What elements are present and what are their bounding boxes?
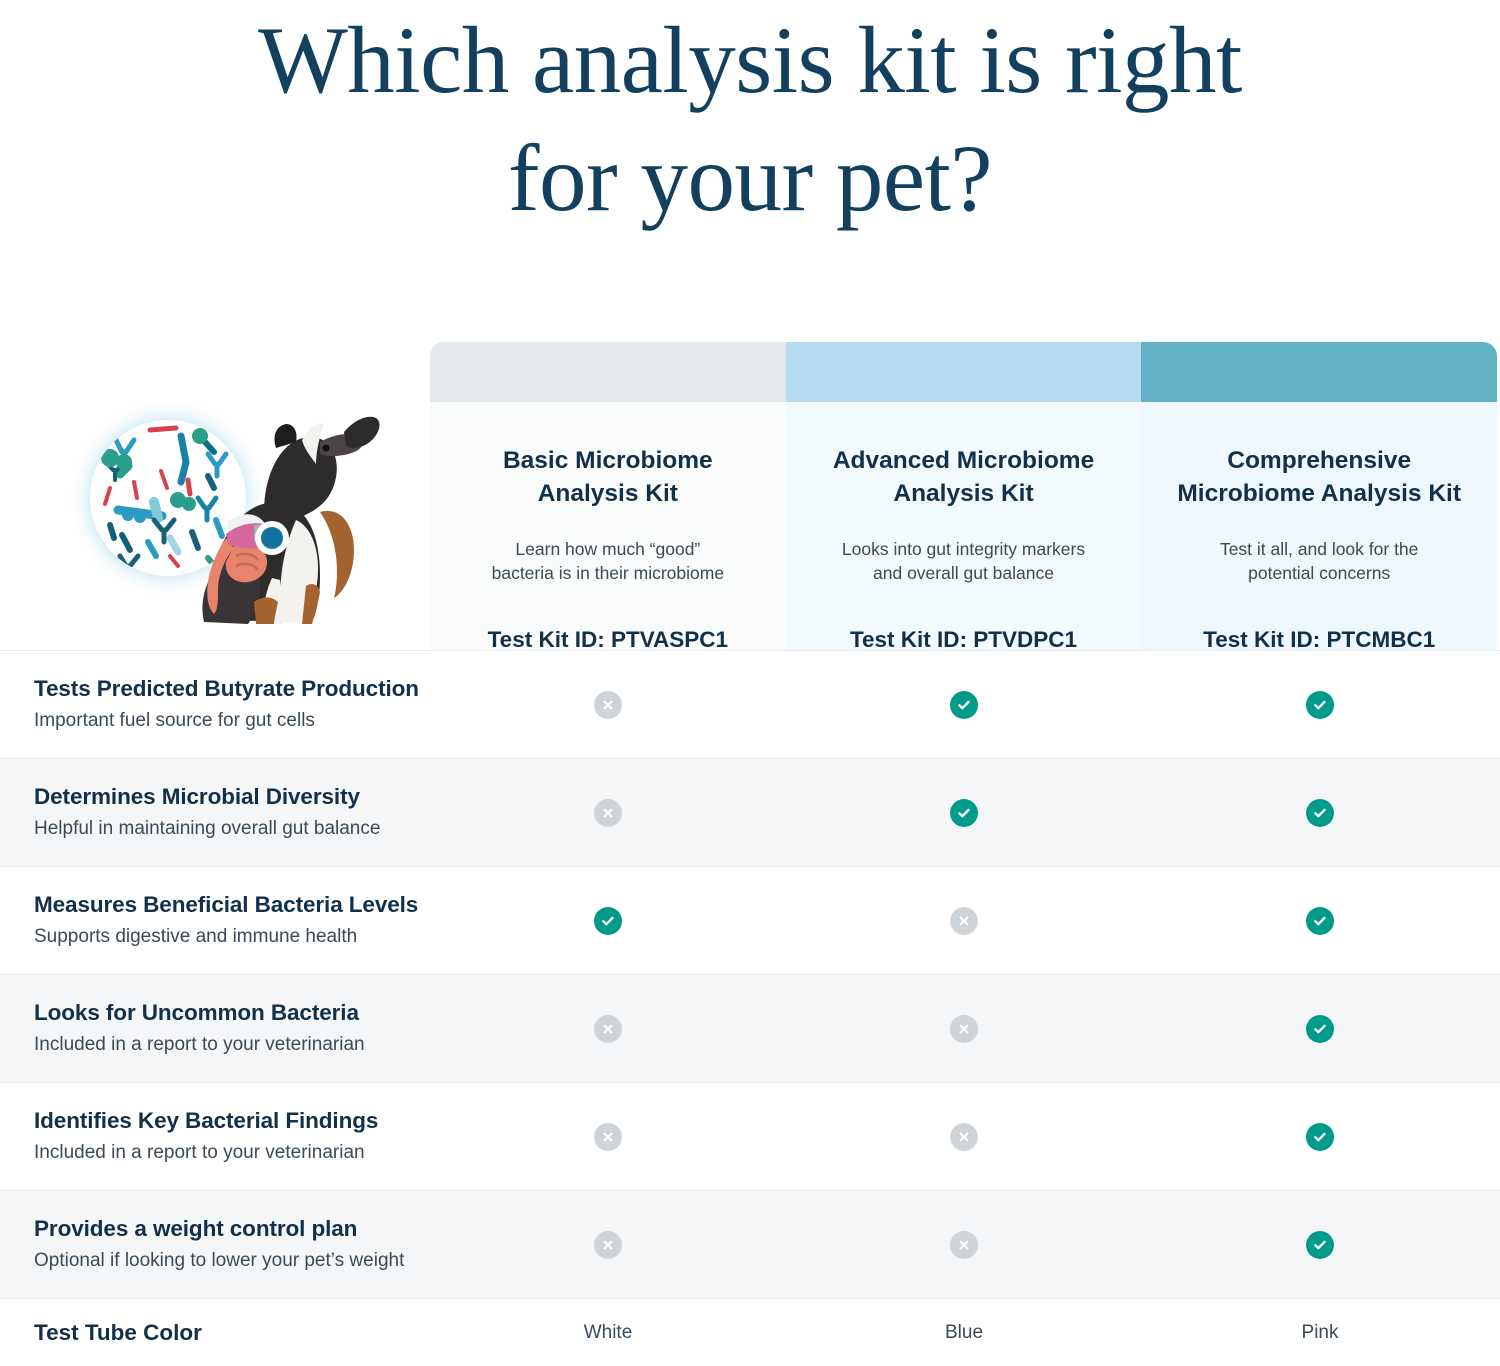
feature-label-cell: Tests Predicted Butyrate ProductionImpor… <box>0 675 430 734</box>
feature-label-cell: Provides a weight control planOptional i… <box>0 1215 430 1274</box>
feature-value-advanced <box>786 907 1142 935</box>
kit-title-line-2: Microbiome Analysis Kit <box>1177 480 1461 507</box>
kit-title-line-2: Analysis Kit <box>893 480 1033 507</box>
feature-value-basic <box>430 907 786 935</box>
feature-value-comprehensive <box>1142 907 1498 935</box>
feature-subtitle: Optional if looking to lower your pet’s … <box>34 1249 430 1274</box>
kit-title-line-1: Comprehensive <box>1227 447 1411 474</box>
test-tube-color-label-cell: Test Tube Color <box>0 1320 430 1346</box>
kit-column-basic-subtitle: Learn how much “good” bacteria is in the… <box>430 537 786 585</box>
kit-subtitle-line-2: and overall gut balance <box>873 563 1054 583</box>
feature-value-advanced <box>786 1123 1142 1151</box>
feature-title: Identifies Key Bacterial Findings <box>34 1107 430 1135</box>
tube-color-value: Blue <box>945 1322 983 1344</box>
feature-row: Measures Beneficial Bacteria LevelsSuppo… <box>0 866 1500 974</box>
check-circle-icon <box>594 907 622 935</box>
feature-row: Identifies Key Bacterial FindingsInclude… <box>0 1082 1500 1190</box>
kit-column-basic-kit-id: Test Kit ID: PTVASPC1 <box>430 627 786 653</box>
kit-subtitle-line-1: Looks into gut integrity markers <box>842 539 1085 559</box>
feature-label-cell: Identifies Key Bacterial FindingsInclude… <box>0 1107 430 1166</box>
kit-subtitle-line-2: potential concerns <box>1248 563 1390 583</box>
page-title-line-2: for your pet? <box>80 120 1420 238</box>
test-tube-color-label: Test Tube Color <box>34 1320 430 1346</box>
cross-circle-icon <box>594 1231 622 1259</box>
feature-title: Looks for Uncommon Bacteria <box>34 999 430 1027</box>
check-circle-icon <box>950 799 978 827</box>
feature-value-advanced <box>786 691 1142 719</box>
feature-value-comprehensive <box>1142 691 1498 719</box>
feature-value-basic <box>430 1015 786 1043</box>
feature-subtitle: Helpful in maintaining overall gut balan… <box>34 817 430 842</box>
cross-circle-icon <box>950 1123 978 1151</box>
feature-title: Determines Microbial Diversity <box>34 783 430 811</box>
feature-value-advanced <box>786 799 1142 827</box>
tube-color-value: White <box>584 1322 633 1344</box>
kit-subtitle-line-1: Test it all, and look for the <box>1220 539 1418 559</box>
feature-row: Looks for Uncommon BacteriaIncluded in a… <box>0 974 1500 1082</box>
feature-label-cell: Determines Microbial DiversityHelpful in… <box>0 783 430 842</box>
kit-column-basic-title: Basic Microbiome Analysis Kit <box>430 444 786 511</box>
kit-column-advanced-subtitle: Looks into gut integrity markers and ove… <box>786 537 1142 585</box>
test-tube-color-row: Test Tube Color White Blue Pink <box>0 1298 1500 1366</box>
feature-value-basic <box>430 1123 786 1151</box>
kit-column-comprehensive-title: Comprehensive Microbiome Analysis Kit <box>1141 444 1497 511</box>
test-tube-color-value-comprehensive: Pink <box>1142 1322 1498 1344</box>
feature-subtitle: Supports digestive and immune health <box>34 925 430 950</box>
check-circle-icon <box>1306 691 1334 719</box>
feature-value-basic <box>430 799 786 827</box>
cross-circle-icon <box>594 1123 622 1151</box>
kit-title-line-1: Advanced Microbiome <box>833 447 1094 474</box>
feature-value-comprehensive <box>1142 799 1498 827</box>
feature-value-basic <box>430 1231 786 1259</box>
feature-title: Provides a weight control plan <box>34 1215 430 1243</box>
check-circle-icon <box>1306 1123 1334 1151</box>
kit-column-advanced-header-bar <box>786 342 1142 402</box>
cross-circle-icon <box>594 799 622 827</box>
cross-circle-icon <box>950 1231 978 1259</box>
check-circle-icon <box>1306 1231 1334 1259</box>
feature-value-comprehensive <box>1142 1231 1498 1259</box>
page-title: Which analysis kit is right for your pet… <box>0 0 1500 238</box>
feature-subtitle: Included in a report to your veterinaria… <box>34 1141 430 1166</box>
feature-row: Determines Microbial DiversityHelpful in… <box>0 758 1500 866</box>
feature-rows: Tests Predicted Butyrate ProductionImpor… <box>0 650 1500 1298</box>
check-circle-icon <box>1306 907 1334 935</box>
kit-column-advanced-kit-id: Test Kit ID: PTVDPC1 <box>786 627 1142 653</box>
kit-subtitle-line-2: bacteria is in their microbiome <box>492 563 724 583</box>
feature-value-advanced <box>786 1015 1142 1043</box>
cross-circle-icon <box>950 1015 978 1043</box>
kit-column-comprehensive-header-bar <box>1141 342 1497 402</box>
kit-title-line-2: Analysis Kit <box>538 480 678 507</box>
kit-column-advanced-title: Advanced Microbiome Analysis Kit <box>786 444 1142 511</box>
test-tube-color-value-basic: White <box>430 1322 786 1344</box>
check-circle-icon <box>1306 1015 1334 1043</box>
page-title-line-1: Which analysis kit is right <box>80 2 1420 120</box>
test-tube-color-value-advanced: Blue <box>786 1322 1142 1344</box>
kit-subtitle-line-1: Learn how much “good” <box>515 539 700 559</box>
feature-title: Measures Beneficial Bacteria Levels <box>34 891 430 919</box>
feature-subtitle: Important fuel source for gut cells <box>34 709 430 734</box>
feature-label-cell: Looks for Uncommon BacteriaIncluded in a… <box>0 999 430 1058</box>
tube-color-value: Pink <box>1302 1322 1339 1344</box>
feature-title: Tests Predicted Butyrate Production <box>34 675 430 703</box>
cross-circle-icon <box>594 691 622 719</box>
cross-circle-icon <box>594 1015 622 1043</box>
dog-microbiome-illustration <box>58 370 408 660</box>
feature-row: Provides a weight control planOptional i… <box>0 1190 1500 1298</box>
feature-value-advanced <box>786 1231 1142 1259</box>
cross-circle-icon <box>950 907 978 935</box>
feature-value-comprehensive <box>1142 1123 1498 1151</box>
check-circle-icon <box>1306 799 1334 827</box>
feature-label-cell: Measures Beneficial Bacteria LevelsSuppo… <box>0 891 430 950</box>
feature-row: Tests Predicted Butyrate ProductionImpor… <box>0 650 1500 758</box>
feature-value-comprehensive <box>1142 1015 1498 1043</box>
kit-column-basic-header-bar <box>430 342 786 402</box>
check-circle-icon <box>950 691 978 719</box>
kit-title-line-1: Basic Microbiome <box>503 447 713 474</box>
feature-subtitle: Included in a report to your veterinaria… <box>34 1033 430 1058</box>
kit-column-comprehensive-subtitle: Test it all, and look for the potential … <box>1141 537 1497 585</box>
feature-value-basic <box>430 691 786 719</box>
kit-column-comprehensive-kit-id: Test Kit ID: PTCMBC1 <box>1141 627 1497 653</box>
